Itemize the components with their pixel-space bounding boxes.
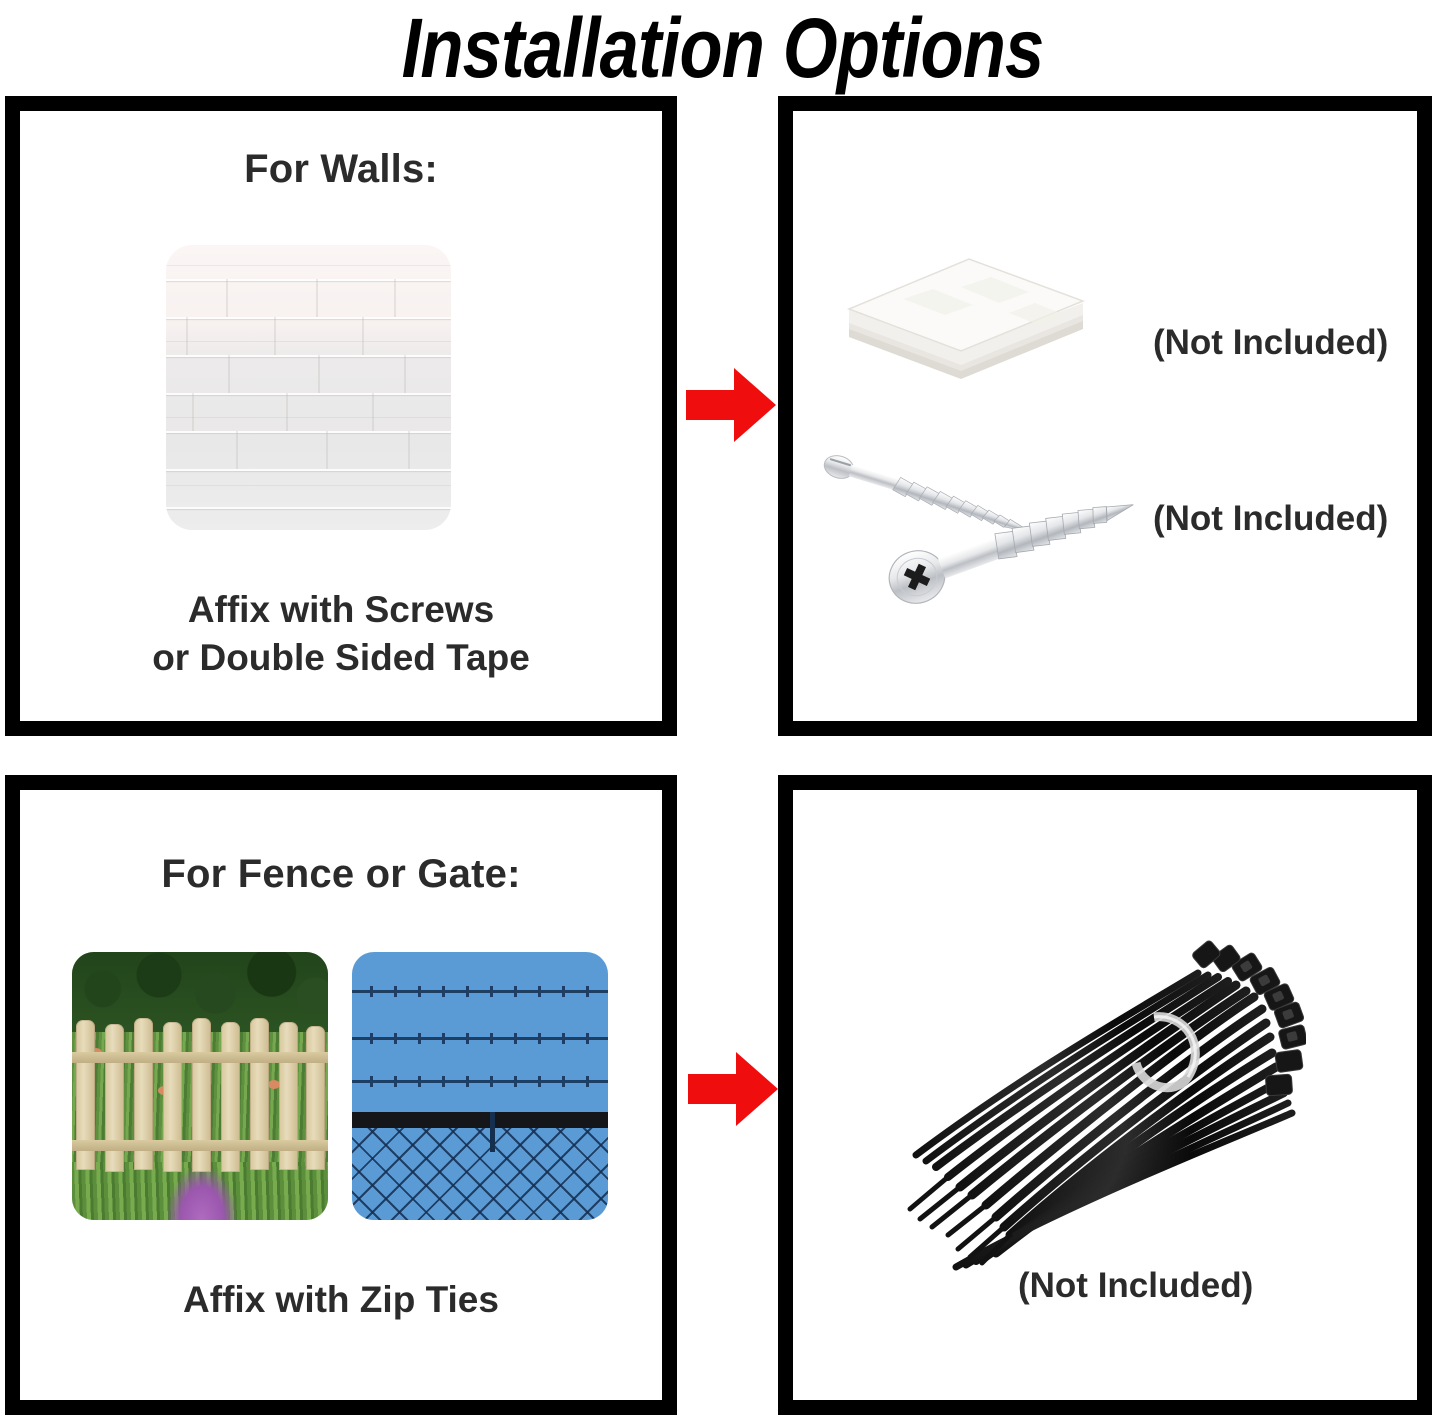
panel-wall-hardware: (Not Included): [778, 96, 1432, 736]
not-included-label-screws: (Not Included): [1153, 499, 1388, 539]
caption-for-fence: Affix with Zip Ties: [20, 1276, 662, 1324]
panel-zip-ties-inner: (Not Included): [793, 790, 1417, 1400]
black-zip-ties-image: [836, 905, 1306, 1280]
panel-zip-ties: (Not Included): [778, 775, 1432, 1415]
red-right-arrow-top: [686, 368, 776, 442]
panel-for-walls: For Walls:: [5, 96, 677, 736]
not-included-label-tape: (Not Included): [1153, 323, 1388, 363]
page-title: Installation Options: [116, 0, 1330, 98]
red-right-arrow-bottom: [688, 1052, 778, 1126]
chain-link-fence-image: [352, 952, 608, 1220]
not-included-label-zipties: (Not Included): [1018, 1266, 1253, 1306]
panel-for-walls-inner: For Walls:: [20, 111, 662, 721]
white-brick-wall-image: [166, 245, 451, 530]
caption-zip-ties: Affix with Zip Ties: [183, 1279, 499, 1320]
double-sided-tape-image: [841, 229, 1091, 384]
wooden-picket-fence-image: [72, 952, 328, 1220]
panel-wall-hardware-inner: (Not Included): [793, 111, 1417, 721]
wood-screws-image: [809, 437, 1139, 612]
panel-heading-for-fence-or-gate: For Fence or Gate:: [20, 852, 662, 897]
caption-line-2: or Double Sided Tape: [20, 634, 662, 682]
caption-line-1: Affix with Screws: [188, 589, 494, 630]
panel-heading-for-walls: For Walls:: [20, 147, 662, 192]
caption-for-walls: Affix with Screws or Double Sided Tape: [20, 586, 662, 682]
